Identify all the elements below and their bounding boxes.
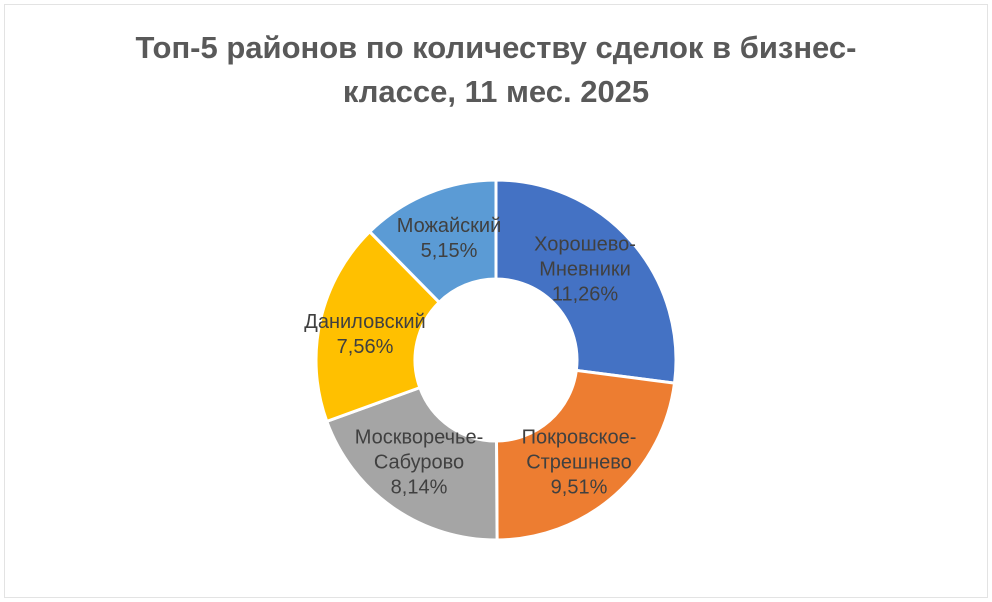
chart-title: Топ-5 районов по количеству сделок в биз… <box>96 26 896 114</box>
doughnut-slices <box>316 180 676 540</box>
doughnut-slice[interactable] <box>496 180 676 383</box>
doughnut-slice[interactable] <box>496 370 674 540</box>
chart-title-line2: классе, 11 мес. 2025 <box>343 74 649 109</box>
slide-canvas: Топ-5 районов по количеству сделок в биз… <box>0 0 992 602</box>
chart-title-line1: Топ-5 районов по количеству сделок в биз… <box>136 30 857 65</box>
doughnut-chart-plot-area: Хорошево- Мневники 11,26% Покровское- Ст… <box>316 180 676 540</box>
doughnut-chart-svg <box>316 180 676 540</box>
